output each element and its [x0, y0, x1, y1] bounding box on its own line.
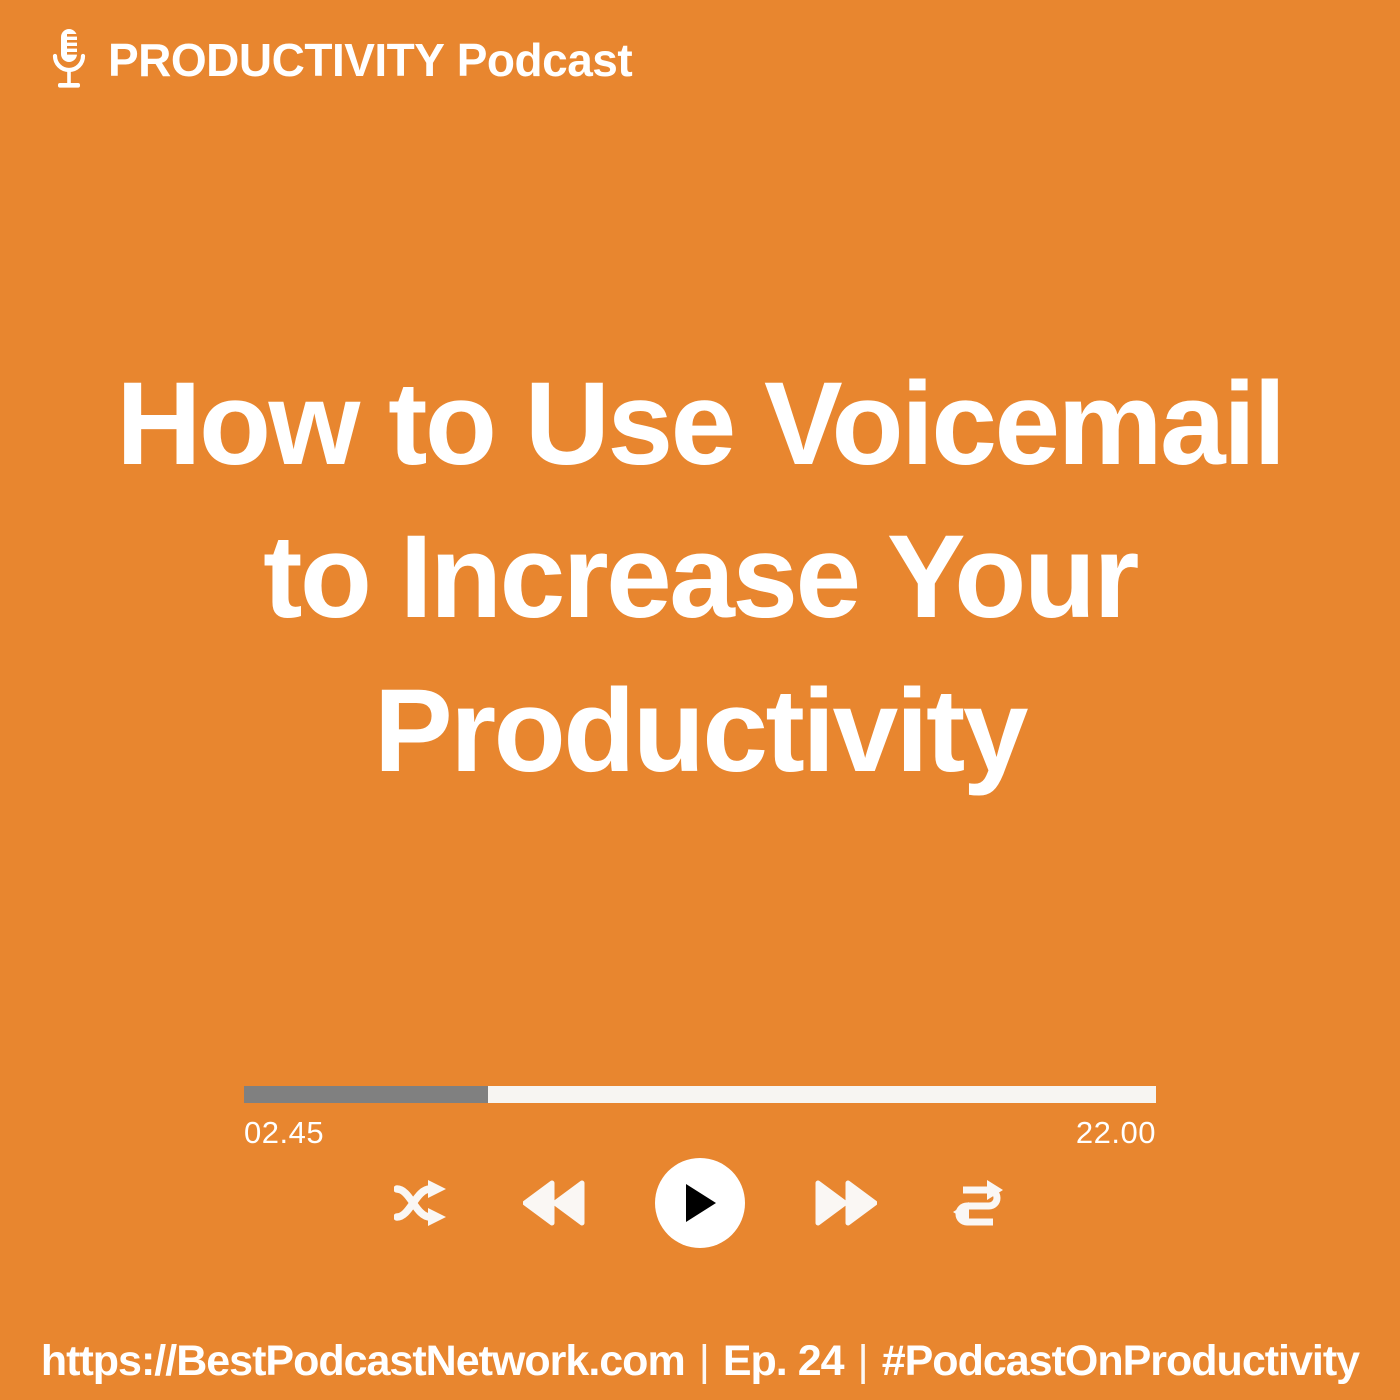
podcast-cover-art: PRODUCTIVITY Podcast How to Use Voicemai… [0, 0, 1400, 1400]
play-icon [680, 1181, 720, 1225]
footer-hashtag[interactable]: #PodcastOnProductivity [882, 1337, 1359, 1386]
footer-episode-number: Ep. 24 [723, 1337, 844, 1386]
episode-title-line-3: Productivity [60, 655, 1340, 808]
repeat-icon [949, 1179, 1007, 1227]
progress-bar[interactable] [244, 1086, 1156, 1103]
repeat-button[interactable] [947, 1172, 1009, 1234]
podcast-brand-header: PRODUCTIVITY Podcast [48, 26, 632, 94]
brand-title-soft: Podcast [457, 34, 632, 86]
playback-controls [0, 1158, 1400, 1248]
total-duration: 22.00 [1076, 1115, 1156, 1151]
elapsed-time: 02.45 [244, 1115, 324, 1151]
rewind-icon [523, 1179, 585, 1227]
footer-url[interactable]: https://BestPodcastNetwork.com [41, 1337, 685, 1386]
footer-separator-2: | [858, 1337, 868, 1386]
brand-title-strong: PRODUCTIVITY [108, 34, 444, 86]
episode-title: How to Use Voicemail to Increase Your Pr… [60, 348, 1340, 808]
brand-title: PRODUCTIVITY Podcast [108, 37, 632, 83]
rewind-button[interactable] [523, 1172, 585, 1234]
shuffle-icon [394, 1179, 450, 1227]
progress-bar-fill [244, 1086, 488, 1103]
microphone-icon [48, 26, 90, 94]
audio-player: 02.45 22.00 [244, 1086, 1156, 1151]
footer-bar: https://BestPodcastNetwork.com | Ep. 24 … [0, 1337, 1400, 1386]
episode-title-line-2: to Increase Your [60, 501, 1340, 654]
footer-separator-1: | [699, 1337, 709, 1386]
play-button[interactable] [655, 1158, 745, 1248]
time-row: 02.45 22.00 [244, 1115, 1156, 1151]
fast-forward-icon [815, 1179, 877, 1227]
episode-title-line-1: How to Use Voicemail [60, 348, 1340, 501]
shuffle-button[interactable] [391, 1172, 453, 1234]
episode-title-block: How to Use Voicemail to Increase Your Pr… [0, 348, 1400, 808]
fast-forward-button[interactable] [815, 1172, 877, 1234]
